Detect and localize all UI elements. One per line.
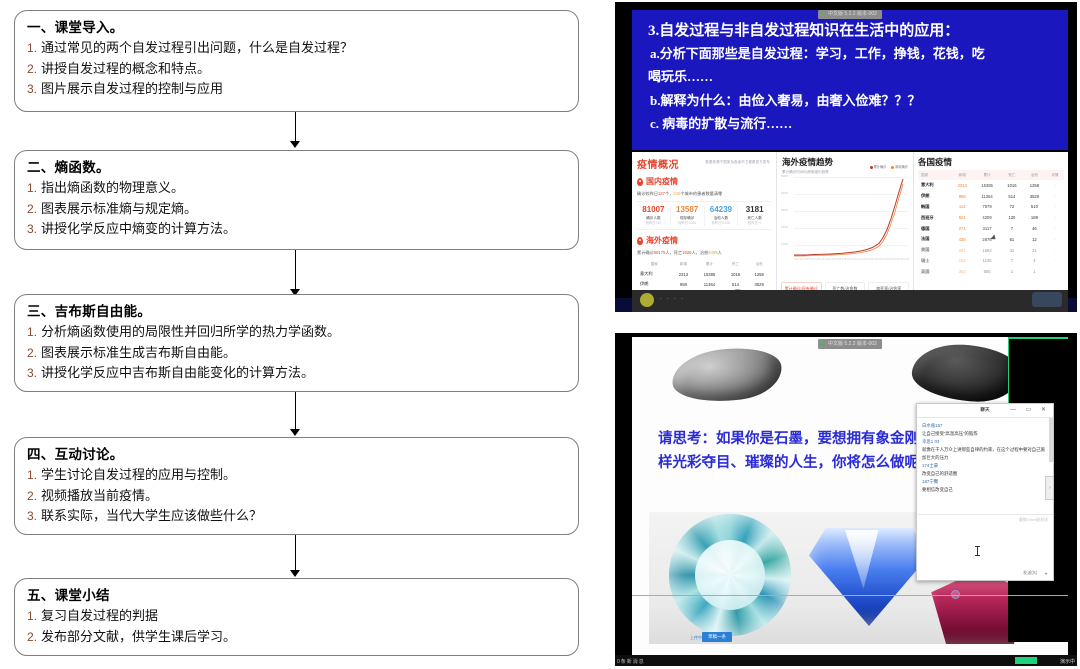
- graphite-rock-dark-image: [911, 342, 1022, 404]
- chat-msg-0-name: 白水瓶157: [922, 422, 1048, 430]
- flow-box-4-item-1: 1.学生讨论自发过程的应用与控制。: [27, 465, 568, 486]
- mini-row-0-cured: 1258: [747, 269, 771, 279]
- flow-box-4[interactable]: 四、互动讨论。 1.学生讨论自发过程的应用与控制。 2.视频播放当前疫情。 3.…: [14, 437, 579, 535]
- mini-row-1-country: 伊朗: [637, 279, 672, 289]
- row-8-total: 885: [973, 266, 1000, 277]
- chat-message-list[interactable]: 白水瓶157 让自己接受“高温高压”的锻炼 幸思1 03 就像在千人万众上讲那些…: [917, 418, 1053, 518]
- legend-item-0: 累计确诊: [870, 165, 887, 169]
- list-number: 2.: [27, 630, 37, 644]
- flow-box-3-item-3: 3.讲授化学反应中吉布斯自由能变化的计算方法。: [27, 363, 568, 384]
- taskbar-right-status: 演示中: [1060, 658, 1075, 665]
- flow-box-2[interactable]: 二、熵函数。 1.指出熵函数的物理意义。 2.图表展示标准熵与规定熵。 3.讲授…: [14, 150, 579, 250]
- teal-gem-image: [669, 514, 791, 636]
- camera-feed-placeholder: [1008, 337, 1068, 391]
- th-total[interactable]: 累计: [973, 170, 1000, 180]
- row-0-new: 2313: [951, 180, 974, 191]
- chat-msg-1-text: 就像在千人万众上讲那些自律的约束，在这个过程中要对自己施加巨大的压力: [922, 446, 1048, 462]
- legend-label-1: 新增确诊: [895, 165, 908, 169]
- slide-line-c: c. 病毒的扩散与流行……: [650, 113, 792, 132]
- flow-box-4-item-2-text: 视频播放当前疫情。: [41, 488, 158, 503]
- row-7-total: 1135: [973, 255, 1000, 266]
- row-0-country: 意大利: [918, 180, 951, 191]
- chat-msg-1-name: 幸思1 03: [922, 438, 1048, 446]
- table-row[interactable]: 意大利23131538510161258›: [918, 180, 1064, 191]
- domestic-note-v1: 137: [658, 191, 665, 196]
- legend-label-0: 累计确诊: [874, 165, 887, 169]
- th-deaths[interactable]: 死亡: [1001, 170, 1024, 180]
- chevron-right-icon[interactable]: ›: [1046, 245, 1064, 256]
- row-8-cured: 1: [1023, 266, 1046, 277]
- row-4-total: 3117: [973, 223, 1000, 234]
- row-2-deaths: 72: [1001, 202, 1024, 213]
- table-row[interactable]: 瑞士154113574›: [918, 255, 1064, 266]
- photo-slide-canvas: 中文版 5.2.2 版本-002 请思考：如果你是石墨，要想拥有象金刚石那 样光…: [632, 337, 1068, 656]
- mini-row-0-new: 2313: [672, 269, 696, 279]
- row-8-new: 352: [951, 266, 974, 277]
- overseas-p4: 人: [718, 250, 722, 255]
- list-number: 2.: [27, 489, 37, 503]
- row-3-deaths: 120: [1001, 212, 1024, 223]
- flow-box-1-item-1: 1.通过常见的两个自发过程引出问题，什么是自发过程？: [27, 38, 568, 59]
- th-cured[interactable]: 治愈: [1023, 170, 1046, 180]
- row-5-new: 436: [951, 234, 974, 245]
- legend-item-1: 新增确诊: [891, 165, 908, 169]
- dashboard-overview-column: 疫情概况 数据来源于国家及各省市卫健委官方发布 国内疫情 确诊较昨日137个，2…: [632, 152, 777, 300]
- flow-box-4-item-2: 2.视频播放当前疫情。: [27, 486, 568, 507]
- flow-box-5[interactable]: 五、课堂小结 1.复习自发过程的判据 2.发布部分文献，供学生课后学习。: [14, 578, 579, 656]
- stat-deaths-delta: 较昨日+7: [738, 221, 771, 226]
- row-1-new: 958: [951, 191, 974, 202]
- flow-arrow-4: [290, 535, 301, 577]
- legend-dot-icon: [870, 166, 873, 169]
- flow-box-1-item-1-text: 通过常见的两个自发过程引出问题，什么是自发过程？: [41, 40, 353, 55]
- flow-box-2-item-2: 2.图表展示标准熵与规定熵。: [27, 199, 568, 220]
- domestic-section-header: 国内疫情: [637, 176, 771, 187]
- chat-divider: [917, 514, 1053, 515]
- list-number: 1.: [27, 325, 37, 339]
- row-7-deaths: 7: [1001, 255, 1024, 266]
- location-pin-icon: [637, 178, 643, 186]
- chat-msg-0-text: 让自己接受“高温高压”的锻炼: [922, 430, 1048, 438]
- row-2-country: 韩国: [918, 202, 951, 213]
- domestic-note: 确诊较昨日137个，240个城市的患者数量清零: [637, 191, 771, 197]
- overseas-mini-table: 国家 新增 累计 死亡 治愈 意大利 2313 15385 1016 1258: [637, 260, 771, 289]
- stat-confirmed-value: 81007: [637, 205, 670, 215]
- row-4-country: 德国: [918, 223, 951, 234]
- row-2-total: 7979: [973, 202, 1000, 213]
- th-new[interactable]: 新增: [951, 170, 974, 180]
- stat-cured: 64239 治愈人数 较昨日+1233: [705, 205, 739, 226]
- row-7-cured: 4: [1023, 255, 1046, 266]
- logo-icon: [640, 293, 654, 307]
- recording-tag-chip: 中文版 5.2.2 版本-002: [818, 10, 882, 19]
- list-number: 1.: [27, 609, 37, 623]
- chat-input-hint: 请按Enter键发送: [1018, 517, 1048, 523]
- mini-row-0-country: 意大利: [637, 269, 672, 279]
- flow-box-5-item-1-text: 复习自发过程的判据: [41, 608, 158, 623]
- table-row[interactable]: 西班牙5014209120189›: [918, 212, 1064, 223]
- list-number: 1.: [27, 468, 37, 482]
- camera-border-accent-top: [1008, 337, 1068, 339]
- flow-arrow-2: [290, 250, 301, 296]
- mini-table-header-row: 国家 新增 累计 死亡 治愈: [637, 260, 771, 269]
- recording-tag-chip: 中文版 5.2.2 版本-002: [818, 339, 882, 349]
- list-number: 3.: [27, 82, 37, 96]
- table-row[interactable]: 德国2713117746›: [918, 223, 1064, 234]
- table-row[interactable]: 伊朗958113645143529›: [918, 191, 1064, 202]
- flow-box-3-item-1: 1.分析熵函数使用的局限性并回归所学的热力学函数。: [27, 322, 568, 343]
- chevron-right-icon[interactable]: ›: [1046, 202, 1064, 213]
- row-2-cured: 510: [1023, 202, 1046, 213]
- flow-box-3-item-2-text: 图表展示标准生成吉布斯自由能。: [41, 345, 236, 360]
- flow-box-1[interactable]: 一、课堂导入。 1.通过常见的两个自发过程引出问题，什么是自发过程？ 2.讲授自…: [14, 10, 579, 112]
- seek-bar[interactable]: [632, 595, 1068, 596]
- list-number: 3.: [27, 509, 37, 523]
- mini-th-total: 累计: [695, 260, 723, 269]
- domestic-title: 国内疫情: [646, 176, 678, 187]
- row-3-new: 501: [951, 212, 974, 223]
- flow-box-3-item-2: 2.图表展示标准生成吉布斯自由能。: [27, 343, 568, 364]
- chevron-right-icon[interactable]: ›: [1046, 212, 1064, 223]
- chart-plot-area: 5000 4000 3000 2000 1000 1/21 1/: [781, 176, 909, 268]
- mini-row-0-deaths: 1016: [724, 269, 748, 279]
- slide-line-b: b.解释为什么：由俭入奢易，由奢入俭难？？？: [650, 90, 920, 109]
- stat-confirmed: 81007 确诊人数 较昨日+39: [637, 205, 671, 226]
- mini-th-deaths: 死亡: [724, 260, 748, 269]
- chevron-right-icon[interactable]: ›: [1046, 266, 1064, 277]
- flow-box-3-title: 三、吉布斯自由能。: [27, 302, 568, 321]
- domestic-note-p1: 确诊较昨日: [637, 191, 658, 196]
- stat-confirmed-delta: 较昨日+39: [637, 221, 670, 226]
- mini-th-country: 国家: [637, 260, 672, 269]
- chevron-down-icon[interactable]: ▾: [1045, 571, 1047, 576]
- chat-input-area[interactable]: 发送(S) ▾: [917, 526, 1053, 580]
- stat-cured-value: 64239: [705, 205, 738, 215]
- row-4-new: 271: [951, 223, 974, 234]
- overseas-title: 海外疫情: [646, 235, 678, 246]
- flow-box-3[interactable]: 三、吉布斯自由能。 1.分析熵函数使用的局限性并回归所学的热力学函数。 2.图表…: [14, 294, 579, 392]
- chevron-right-icon[interactable]: ›: [1046, 191, 1064, 202]
- row-3-total: 4209: [973, 212, 1000, 223]
- row-5-deaths: 61: [1001, 234, 1024, 245]
- table-row[interactable]: 美国29116924121›: [918, 245, 1064, 256]
- chart-ytick-5000: 5000: [781, 174, 788, 178]
- mini-row-1-deaths: 514: [724, 279, 748, 289]
- list-number: 1.: [27, 41, 37, 55]
- list-number: 3.: [27, 366, 37, 380]
- countries-table-panel[interactable]: 各国疫情 国家 新增 累计 死亡 治愈 详情 意大利23131538510161…: [914, 152, 1068, 300]
- overseas-p2: 人，死亡: [665, 250, 682, 255]
- flow-box-1-item-3: 3.图片展示自发过程的控制与应用: [27, 79, 568, 100]
- stat-existing-delta: 较昨日-1026: [671, 221, 704, 226]
- chat-window[interactable]: 聊天 — ▭ ✕ 白水瓶157 让自己接受“高温高压”的锻炼 幸思1 03 就像…: [916, 403, 1054, 581]
- slide-line-a: a.分析下面那些是自发过程：学习，工作，挣钱，花钱，吃: [650, 43, 985, 62]
- flow-box-3-item-1-text: 分析熵函数使用的局限性并回归所学的热力学函数。: [41, 324, 340, 339]
- flow-box-4-item-3-text: 联系实际，当代大学生应该做些什么？: [41, 508, 262, 523]
- row-5-cured: 12: [1023, 234, 1046, 245]
- domestic-stat-row: 81007 确诊人数 较昨日+39 13587 现存确诊 较昨日-1026 64…: [637, 201, 771, 230]
- overseas-v1: 58175: [654, 250, 666, 255]
- row-3-country: 西班牙: [918, 212, 951, 223]
- dashboard-subtitle: 数据来源于国家及各省市卫健委官方发布: [705, 159, 770, 164]
- row-3-cured: 189: [1023, 212, 1046, 223]
- table-row: 伊朗 958 11364 514 3529: [637, 279, 771, 289]
- chat-msg-3-text: 要相信改变自己: [922, 486, 1048, 494]
- chart-subtitle: 累计确诊时间与病例增长趋势: [782, 170, 908, 175]
- slide-heading: 3.自发过程与非自发过程知识在生活中的应用：: [648, 19, 959, 40]
- chat-msg-3-name: 187宁馨: [922, 478, 1048, 486]
- overseas-p1: 累计确诊: [637, 250, 654, 255]
- countries-title: 各国疫情: [918, 156, 1064, 168]
- flow-box-4-item-1-text: 学生讨论自发过程的应用与控制。: [41, 467, 236, 482]
- overseas-v3: 8459: [708, 250, 717, 255]
- row-1-country: 伊朗: [918, 191, 951, 202]
- th-detail: 详情: [1046, 170, 1064, 180]
- lecture-slide-screenshot[interactable]: 中文版 5.2.2 版本-002 3.自发过程与非自发过程知识在生活中的应用： …: [615, 2, 1077, 312]
- mini-row-1-new: 958: [672, 279, 696, 289]
- mini-row-0-total: 15385: [695, 269, 723, 279]
- table-row[interactable]: 英国35288511›: [918, 266, 1064, 277]
- chat-title-bar[interactable]: 聊天 — ▭ ✕: [917, 404, 1053, 418]
- flow-box-1-item-3-text: 图片展示自发过程的控制与应用: [41, 81, 223, 96]
- row-0-cured: 1258: [1023, 180, 1046, 191]
- flow-box-2-title: 二、熵函数。: [27, 158, 568, 177]
- overseas-p3: 人，治愈: [692, 250, 709, 255]
- chat-msg-2-text: 改变自己的舒适圈: [922, 470, 1048, 478]
- countries-table: 国家 新增 累计 死亡 治愈 详情 意大利23131538510161258› …: [918, 170, 1064, 277]
- window-controls-icon[interactable]: — ▭ ✕: [1010, 406, 1050, 413]
- row-1-cured: 3529: [1023, 191, 1046, 202]
- seek-handle[interactable]: [951, 590, 960, 599]
- flow-box-3-item-3-text: 讲授化学反应中吉布斯自由能变化的计算方法。: [41, 365, 314, 380]
- blue-slide: 中文版 5.2.2 版本-002 3.自发过程与非自发过程知识在生活中的应用： …: [632, 10, 1068, 150]
- row-7-country: 瑞士: [918, 255, 951, 266]
- list-number: 2.: [27, 346, 37, 360]
- row-1-deaths: 514: [1001, 191, 1024, 202]
- flow-box-2-item-1-text: 指出熵函数的物理意义。: [41, 180, 184, 195]
- row-2-new: 114: [951, 202, 974, 213]
- flow-box-1-title: 一、课堂导入。: [27, 18, 568, 37]
- row-8-deaths: 1: [1001, 266, 1024, 277]
- row-0-deaths: 1016: [1001, 180, 1024, 191]
- upload-status-label: 上传中: [690, 635, 702, 641]
- row-4-deaths: 7: [1001, 223, 1024, 234]
- table-header-row: 国家 新增 累计 死亡 治愈 详情: [918, 170, 1064, 180]
- mini-row-1-cured: 3529: [747, 279, 771, 289]
- flow-box-5-item-1: 1.复习自发过程的判据: [27, 606, 568, 627]
- chart-xaxis-ticks: 1/21 1/23 1/25 1/27 1/29 1/31 2/02 2/04 …: [794, 258, 909, 268]
- chart-line-series: [794, 176, 905, 258]
- epidemic-dashboard[interactable]: 疫情概况 数据来源于国家及各省市卫健委官方发布 国内疫情 确诊较昨日137个，2…: [632, 152, 1068, 300]
- screenshot-panels: 中文版 5.2.2 版本-002 3.自发过程与非自发过程知识在生活中的应用： …: [610, 0, 1080, 669]
- chart-ytick-1000: 1000: [781, 242, 788, 246]
- list-number: 3.: [27, 222, 37, 236]
- location-pin-icon: [637, 237, 643, 245]
- stat-existing-value: 13587: [671, 205, 704, 215]
- chevron-right-icon[interactable]: ›: [1046, 234, 1064, 245]
- table-row: 意大利 2313 15385 1016 1258: [637, 269, 771, 279]
- slide-next-preview-strip: · · · ·: [632, 290, 1068, 312]
- chat-window-title: 聊天: [980, 407, 989, 413]
- preview-caption: · · · ·: [660, 296, 685, 302]
- gem-images-band: [649, 512, 956, 644]
- list-number: 2.: [27, 202, 37, 216]
- overseas-trend-chart[interactable]: 海外疫情趋势 累计确诊时间与病例增长趋势 累计确诊 新增确诊 5000 4000…: [777, 152, 914, 300]
- row-7-new: 154: [951, 255, 974, 266]
- taskbar-left-status: 0条新消息: [617, 658, 645, 665]
- slide-line-a-cont: 喝玩乐……: [648, 66, 713, 85]
- flow-box-2-item-1: 1.指出熵函数的物理意义。: [27, 178, 568, 199]
- row-1-total: 11364: [973, 191, 1000, 202]
- graphite-diamond-slide-screenshot[interactable]: 中文版 5.2.2 版本-002 请思考：如果你是石墨，要想拥有象金刚石那 样光…: [615, 333, 1077, 666]
- row-5-country: 法国: [918, 234, 951, 245]
- mini-row-1-total: 11364: [695, 279, 723, 289]
- stat-deaths: 3181 死亡人数 较昨日+7: [738, 205, 771, 226]
- flow-box-1-item-2: 2.讲授自发过程的概念和特点。: [27, 59, 568, 80]
- camera-border-accent: [1008, 337, 1010, 391]
- stat-cured-delta: 较昨日+1233: [705, 221, 738, 226]
- row-0-total: 15385: [973, 180, 1000, 191]
- flow-box-2-item-2-text: 图表展示标准熵与规定熵。: [41, 201, 197, 216]
- chevron-right-icon[interactable]: ›: [1046, 180, 1064, 191]
- row-6-deaths: 41: [1001, 245, 1024, 256]
- flow-box-4-title: 四、互动讨论。: [27, 445, 568, 464]
- draft-badge[interactable]: 草稿一条: [702, 632, 732, 642]
- chat-scrollbar[interactable]: [1049, 418, 1053, 462]
- graphite-rock-light-image: [669, 342, 785, 407]
- chart-ytick-4000: 4000: [781, 191, 788, 195]
- blue-diamond-image: [809, 528, 929, 626]
- row-6-new: 291: [951, 245, 974, 256]
- flow-box-2-item-3-text: 讲授化学反应中熵变的计算方法。: [41, 221, 236, 236]
- domestic-note-p2: 个城市的患者数量清零: [680, 191, 722, 196]
- mini-th-new: 新增: [672, 260, 696, 269]
- flow-box-1-item-2-text: 讲授自发过程的概念和特点。: [41, 61, 210, 76]
- list-number: 2.: [27, 62, 37, 76]
- chevron-right-icon[interactable]: ›: [1046, 223, 1064, 234]
- legend-dot-icon: [891, 166, 894, 169]
- row-8-country: 英国: [918, 266, 951, 277]
- chart-ytick-2000: 2000: [781, 225, 788, 229]
- list-number: 1.: [27, 181, 37, 195]
- th-country[interactable]: 国家: [918, 170, 951, 180]
- chevron-right-icon[interactable]: ›: [1046, 255, 1064, 266]
- photo-slide-taskbar: 0条新消息 演示中: [615, 655, 1077, 666]
- text-cursor-icon: [977, 546, 978, 556]
- overseas-v2: 1928: [682, 250, 691, 255]
- row-6-total: 1692: [973, 245, 1000, 256]
- flow-box-5-item-2: 2.发布部分文献，供学生课后学习。: [27, 627, 568, 648]
- flow-box-5-title: 五、课堂小结: [27, 586, 568, 605]
- row-6-cured: 21: [1023, 245, 1046, 256]
- chat-collapse-tab[interactable]: ›: [1045, 476, 1054, 500]
- taskbar-green-indicator: [1015, 657, 1037, 664]
- stat-deaths-value: 3181: [738, 205, 771, 215]
- mini-th-cured: 治愈: [747, 260, 771, 269]
- table-row[interactable]: 韩国114797972510›: [918, 202, 1064, 213]
- flow-box-5-item-2-text: 发布部分文献，供学生课后学习。: [41, 629, 236, 644]
- row-4-cured: 46: [1023, 223, 1046, 234]
- overseas-section-header: 海外疫情: [637, 235, 771, 246]
- row-6-country: 美国: [918, 245, 951, 256]
- chat-send-button[interactable]: 发送(S): [1023, 570, 1037, 576]
- chat-msg-2-name: 174土豪: [922, 462, 1048, 470]
- flow-arrow-3: [290, 392, 301, 436]
- lesson-plan-flowchart: 一、课堂导入。 1.通过常见的两个自发过程引出问题，什么是自发过程？ 2.讲授自…: [0, 0, 600, 669]
- flow-arrow-1: [290, 112, 301, 148]
- overseas-note: 累计确诊58175人，死亡1928人，治愈8459人: [637, 250, 771, 256]
- stat-existing: 13587 现存确诊 较昨日-1026: [671, 205, 705, 226]
- chart-ytick-3000: 3000: [781, 208, 788, 212]
- chart-legend: 累计确诊 新增确诊: [866, 164, 908, 169]
- flow-box-4-item-3: 3.联系实际，当代大学生应该做些什么？: [27, 506, 568, 527]
- preview-thumbnail: [1032, 292, 1062, 307]
- flow-box-2-item-3: 3.讲授化学反应中熵变的计算方法。: [27, 219, 568, 240]
